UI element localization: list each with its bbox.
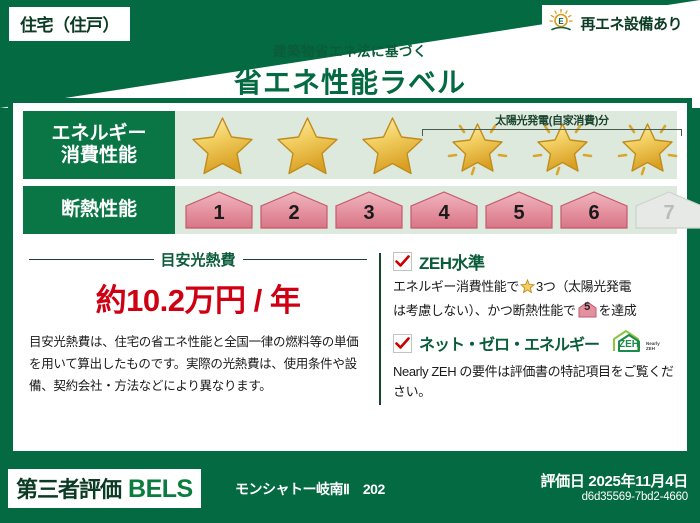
zeh-netzero-description: Nearly ZEH の要件は評価書の特記項目をご覧ください。 [393,362,677,404]
star-icon [351,113,434,177]
insulation-performance-body: 1 2 3 4 5 [175,186,700,234]
evaluation-id: d6d35569-7bd2-4660 [582,491,688,503]
insulation-level-value: 6 [588,202,599,230]
energy-performance-label-line2: 消費性能 [61,145,137,167]
building-type-tag: 住宅（住戸） [8,6,131,42]
insulation-level-value: 1 [213,202,224,230]
zeh-standard-description: エネルギー消費性能で3つ（太陽光発電は考慮しない）、かつ断熱性能で5を達成 [393,277,677,322]
insulation-performance-row: 断熱性能 1 2 [23,186,677,234]
renewable-energy-label: 再エネ設備あり [580,13,682,34]
footer-bar: 第三者評価 BELS モンシャトー岐南Ⅱ 202 評価日 2025年11月4日 … [0,461,700,523]
zeh-standard-title: ZEH水準 [419,249,485,274]
cost-section: 目安光熱費 約10.2万円 / 年 目安光熱費は、住宅の省エネ性能と全国一律の燃… [13,243,379,417]
insulation-level-badge: 5 [483,190,555,230]
page-title: 省エネ性能ラベル [0,61,700,101]
cost-heading-label: 目安光熱費 [161,249,236,270]
zeh-standard-head: ZEH水準 [393,249,677,274]
insulation-level-value: 4 [438,202,449,230]
label-card: エネルギー 消費性能 [8,98,692,456]
insulation-level-badge: 3 [333,190,405,230]
title-block: 建築物省エネ法に基づく 省エネ性能ラベル [0,40,700,101]
checkbox-checked-icon[interactable] [393,252,412,271]
star-icon-solar [436,113,519,177]
cost-note: 目安光熱費は、住宅の省エネ性能と全国一律の燃料等の単価を用いて算出したものです。… [29,332,367,398]
star-icon-inline [520,279,535,301]
heading-rule-right [243,259,368,261]
checkbox-checked-icon[interactable] [393,334,412,353]
svg-text:E: E [559,17,565,26]
property-name: モンシャトー岐南Ⅱ 202 [235,479,385,499]
zeh-standard-block: ZEH水準 エネルギー消費性能で3つ（太陽光発電は考慮しない）、かつ断熱性能で5… [393,249,677,322]
insulation-level-list: 1 2 3 4 5 [175,186,700,234]
zeh-netzero-title: ネット・ゼロ・エネルギー [419,331,599,355]
zeh-desc-part3: を達成 [599,303,637,318]
insulation-level-badge: 1 [183,190,255,230]
third-party-label: 第三者評価 [16,472,121,504]
star-icon [266,113,349,177]
svg-text:ZEH: ZEH [619,339,639,350]
title-subtitle: 建築物省エネ法に基づく [0,40,700,60]
insulation-level-badge: 2 [258,190,330,230]
zeh-desc-star-count: 3つ（太陽光発電 [536,279,631,294]
insulation-level-value: 7 [663,202,674,230]
star-icon-solar [521,113,604,177]
energy-performance-row: エネルギー 消費性能 [23,111,677,179]
insulation-level-value: 5 [513,202,524,230]
zeh-desc-part2: は考慮しない）、かつ断熱性能で [393,303,576,318]
bels-label: BELS [128,475,193,504]
renewable-energy-badge: E 再エネ設備あり [542,5,692,42]
insulation-level-badge: 4 [408,190,480,230]
evaluation-date: 評価日 2025年11月4日 [540,470,688,491]
insulation-level-badge-inactive: 7 [633,190,700,230]
bels-certification-box: 第三者評価 BELS [8,469,201,508]
zeh-netzero-head: ネット・ゼロ・エネルギー ZEH Nearly ZEH [393,328,677,359]
cost-heading: 目安光熱費 [29,249,367,270]
star-icon [181,113,264,177]
zeh-desc-part1: エネルギー消費性能で [393,279,519,294]
insulation-level-value: 3 [363,202,374,230]
zeh-netzero-block: ネット・ゼロ・エネルギー ZEH Nearly ZEH Nearly ZEH の… [393,328,677,404]
insulation-performance-label: 断熱性能 [23,186,175,234]
insulation-badge-inline: 5 [578,301,597,318]
insulation-badge-inline-value: 5 [578,301,597,318]
performance-area: エネルギー 消費性能 [13,103,687,234]
energy-performance-label: エネルギー 消費性能 [23,111,175,179]
lower-content: 目安光熱費 約10.2万円 / 年 目安光熱費は、住宅の省エネ性能と全国一律の燃… [13,241,687,417]
svg-text:ZEH: ZEH [646,346,655,351]
zeh-section: ZEH水準 エネルギー消費性能で3つ（太陽光発電は考慮しない）、かつ断熱性能で5… [381,243,687,417]
energy-performance-label-line1: エネルギー [51,123,146,145]
cost-value: 約10.2万円 / 年 [29,275,367,320]
sun-icon: E [548,8,574,39]
zeh-logo-icon: ZEH Nearly ZEH [610,328,668,359]
heading-rule-left [29,259,154,261]
star-icon-solar [606,113,689,177]
star-rating [175,111,689,179]
insulation-level-value: 2 [288,202,299,230]
insulation-level-badge: 6 [558,190,630,230]
energy-performance-body: 太陽光発電(自家消費)分 [175,111,689,179]
